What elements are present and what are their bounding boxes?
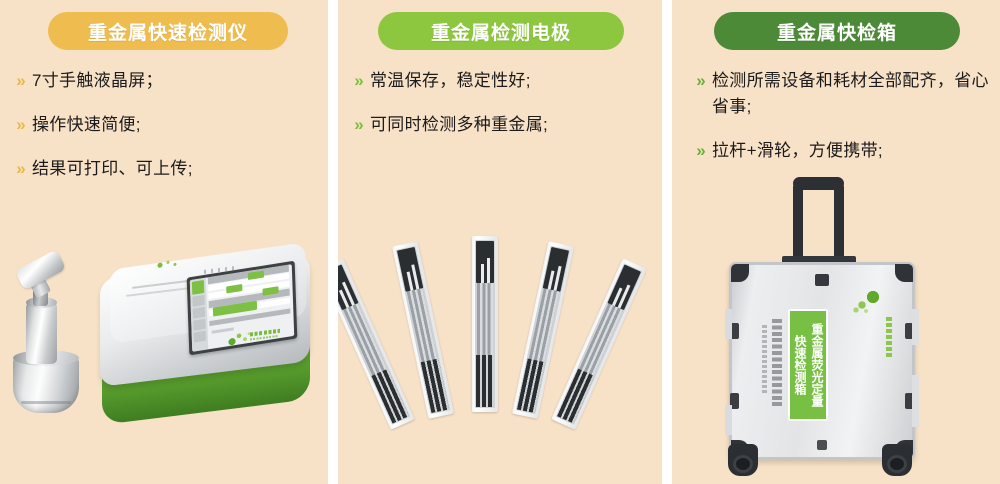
chevron-right-icon: » bbox=[348, 68, 370, 93]
sample-holder-column bbox=[26, 302, 57, 364]
case-company-text-block bbox=[772, 319, 782, 407]
product-feature-board: 重金属快速检测仪 » 7寸手触液晶屏； » 操作快速简便; » 结果可打印、可上… bbox=[0, 0, 1000, 484]
panel-electrode: 重金属检测电极 » 常温保存，稳定性好; » 可同时检测多种重金属; bbox=[338, 0, 662, 484]
case-side-rail bbox=[725, 405, 732, 435]
case-label-text: 重金属荧光定量 快速检测箱 bbox=[791, 323, 825, 407]
bullet-text: 检测所需设备和耗材全部配齐，省心省事; bbox=[712, 68, 990, 120]
screen-sidebar-item[interactable] bbox=[194, 331, 206, 343]
list-item: » 常温保存，稳定性好; bbox=[348, 68, 648, 94]
list-item: » 拉杆+滑轮，方便携带; bbox=[690, 138, 990, 164]
case-brand-logo-icon bbox=[852, 289, 882, 315]
panel-case-title: 重金属快检箱 bbox=[714, 12, 960, 50]
analyzer-unit bbox=[96, 252, 316, 422]
bullet-text: 结果可打印、可上传; bbox=[32, 156, 193, 182]
panel-analyzer-bullet-list: » 7寸手触液晶屏； » 操作快速简便; » 结果可打印、可上传; bbox=[10, 68, 314, 200]
chevron-right-icon: » bbox=[10, 112, 32, 137]
bullet-text: 拉杆+滑轮，方便携带; bbox=[712, 138, 883, 164]
screen-sidebar-item[interactable] bbox=[193, 307, 205, 319]
panel-divider bbox=[662, 0, 672, 484]
electrode-strip bbox=[472, 236, 498, 412]
list-item: » 检测所需设备和耗材全部配齐，省心省事; bbox=[690, 68, 990, 120]
chevron-right-icon: » bbox=[690, 68, 712, 93]
case-company-text-block-2 bbox=[762, 325, 767, 395]
panel-divider bbox=[328, 0, 338, 484]
case-lock-bottom-icon bbox=[817, 440, 827, 450]
electrode-product-photo bbox=[338, 228, 662, 428]
chevron-right-icon: » bbox=[348, 112, 370, 137]
bullet-text: 可同时检测多种重金属; bbox=[370, 112, 548, 138]
logo-dots-icon bbox=[228, 331, 250, 346]
panel-electrode-bullet-list: » 常温保存，稳定性好; » 可同时检测多种重金属; bbox=[348, 68, 648, 156]
list-item: » 操作快速简便; bbox=[10, 112, 314, 138]
case-lock-top-icon bbox=[815, 274, 829, 286]
case-wheel bbox=[882, 444, 912, 476]
bullet-text: 操作快速简便; bbox=[32, 112, 141, 138]
analyzer-product-photo bbox=[0, 250, 328, 484]
panel-case: 重金属快检箱 » 检测所需设备和耗材全部配齐，省心省事; » 拉杆+滑轮，方便携… bbox=[672, 0, 1000, 484]
trolley-handle-left-rod bbox=[793, 184, 803, 262]
bullet-text: 7寸手触液晶屏； bbox=[32, 68, 163, 94]
aluminium-case-body: 重金属荧光定量 快速检测箱 bbox=[729, 262, 915, 460]
panel-electrode-title: 重金属检测电极 bbox=[378, 12, 624, 50]
screen-sidebar-item[interactable] bbox=[192, 295, 204, 307]
screen-sidebar bbox=[190, 278, 209, 352]
case-corner-protector bbox=[731, 264, 749, 282]
case-side-rail bbox=[912, 375, 919, 427]
list-item: » 7寸手触液晶屏； bbox=[10, 68, 314, 94]
trolley-handle-right-rod bbox=[834, 184, 844, 262]
chevron-right-icon: » bbox=[10, 156, 32, 181]
list-item: » 可同时检测多种重金属; bbox=[348, 112, 648, 138]
panel-analyzer-title: 重金属快速检测仪 bbox=[48, 12, 288, 50]
case-green-label: 重金属荧光定量 快速检测箱 bbox=[788, 309, 828, 421]
panel-analyzer: 重金属快速检测仪 » 7寸手触液晶屏； » 操作快速简便; » 结果可打印、可上… bbox=[0, 0, 328, 484]
case-side-rail bbox=[912, 309, 919, 345]
bullet-text: 常温保存，稳定性好; bbox=[370, 68, 531, 94]
case-wheel bbox=[728, 444, 758, 476]
screen-sidebar-active-item[interactable] bbox=[192, 280, 204, 295]
case-side-rail bbox=[725, 309, 732, 339]
panel-case-bullet-list: » 检测所需设备和耗材全部配齐，省心省事; » 拉杆+滑轮，方便携带; bbox=[690, 68, 990, 182]
chevron-right-icon: » bbox=[690, 138, 712, 163]
case-corner-protector bbox=[895, 264, 913, 282]
case-brand-wordmark bbox=[886, 317, 892, 359]
list-item: » 结果可打印、可上传; bbox=[10, 156, 314, 182]
chevron-right-icon: » bbox=[10, 68, 32, 93]
screen-sidebar-item[interactable] bbox=[193, 319, 205, 331]
case-product-photo: 重金属荧光定量 快速检测箱 bbox=[672, 176, 1000, 484]
